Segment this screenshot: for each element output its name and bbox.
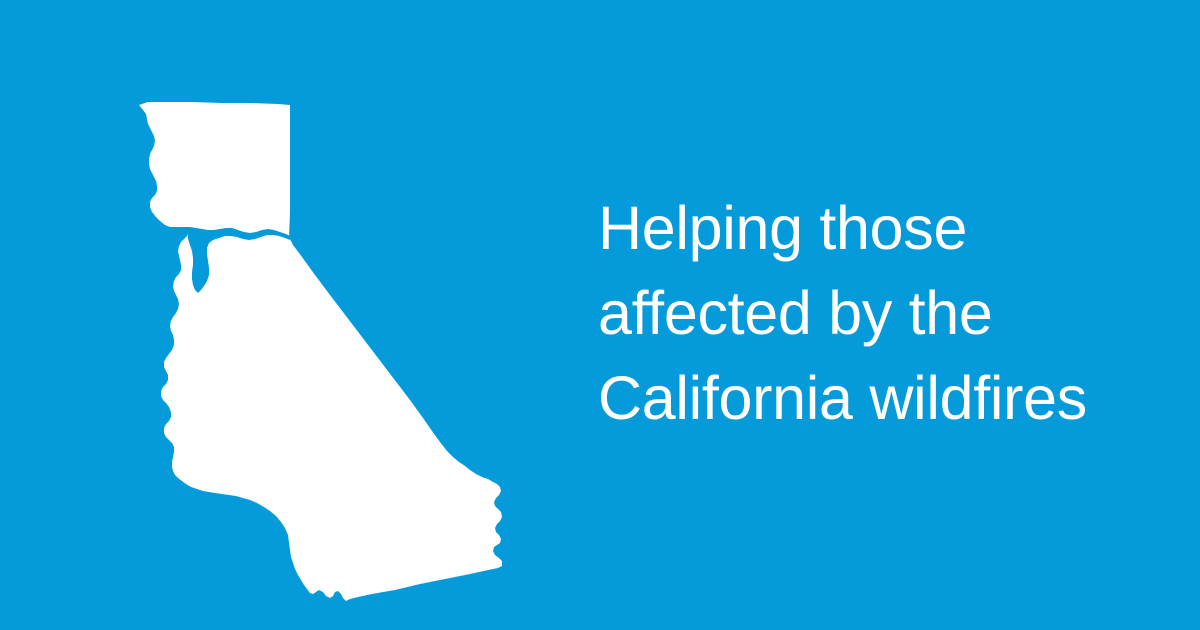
headline: Helping those affected by the California… [598, 186, 1158, 441]
california-mainland-path [139, 102, 502, 601]
california-map [110, 85, 530, 550]
headline-line-2: affected by the [598, 271, 1158, 356]
headline-line-1: Helping those [598, 186, 1158, 271]
wildfire-relief-banner: Helping those affected by the California… [0, 0, 1200, 630]
california-state-outline-icon [110, 85, 530, 550]
headline-line-3: California wildfires [598, 356, 1158, 441]
